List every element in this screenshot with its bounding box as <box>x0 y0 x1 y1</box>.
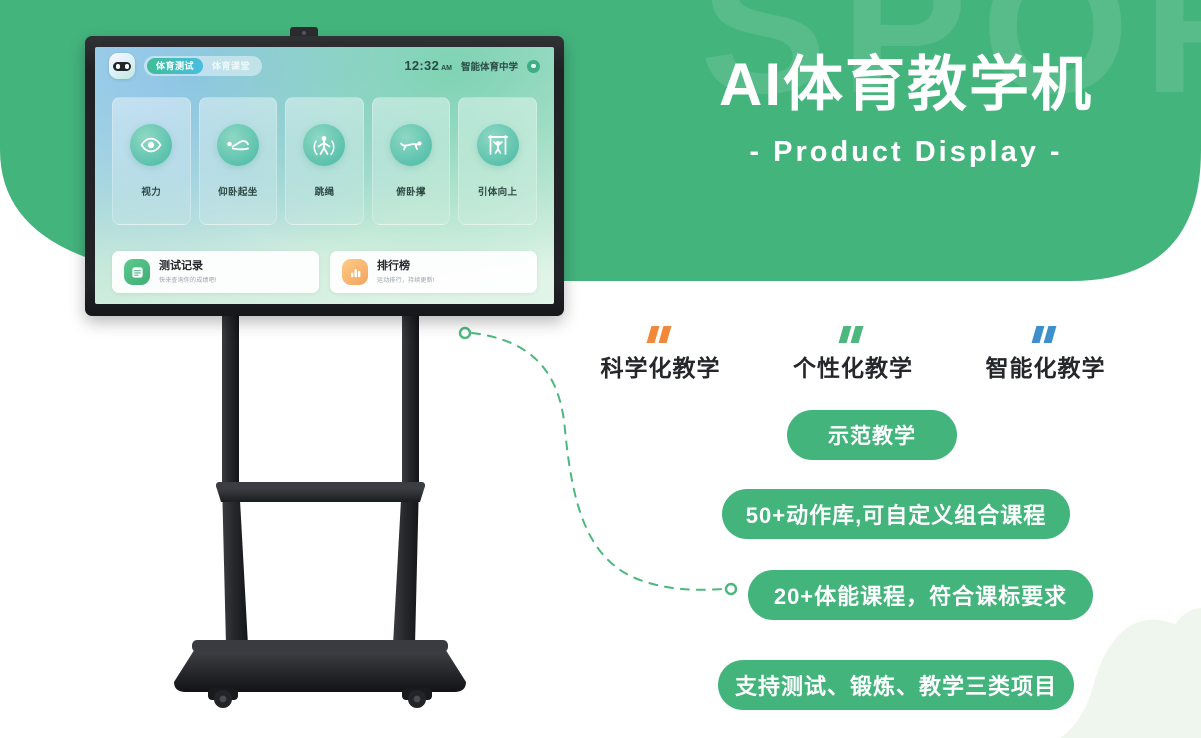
hero-text-block: AI体育教学机 - Product Display - <box>646 52 1166 169</box>
feature-intelligent: 智能化教学 <box>958 326 1133 383</box>
feature-label: 个性化教学 <box>766 349 941 383</box>
tile-label: 引体向上 <box>478 184 518 198</box>
school-name: 智能体育中学 <box>461 59 518 73</box>
card-subtitle: 快来查询你的成绩吧! <box>159 275 217 284</box>
feature-pill-action-library[interactable]: 50+动作库,可自定义组合课程 <box>722 489 1070 539</box>
caster-right <box>402 688 432 708</box>
left-post-lower <box>222 482 248 645</box>
eye-icon <box>130 124 172 166</box>
mode-tab-group[interactable]: 体育测试 体育课堂 <box>144 56 262 76</box>
card-test-records[interactable]: 测试记录 快来查询你的成绩吧! <box>112 251 319 293</box>
right-post-lower <box>393 482 419 645</box>
document-record-icon <box>124 259 150 285</box>
clock-ampm: AM <box>441 65 452 72</box>
right-post-upper <box>402 312 419 482</box>
card-text: 排行榜 运动排行，持续更新! <box>377 260 435 284</box>
quote-mark-icon <box>840 326 866 343</box>
tile-pullup[interactable]: 引体向上 <box>458 97 537 225</box>
middle-shelf-top <box>216 482 425 489</box>
feature-heading-row: 科学化教学 个性化教学 智能化教学 <box>573 326 1133 383</box>
jumprope-icon <box>303 124 345 166</box>
card-subtitle: 运动排行，持续更新! <box>377 275 435 284</box>
connector-end-dot-icon <box>726 584 736 594</box>
card-title: 排行榜 <box>377 260 435 273</box>
clock: 12:32AM <box>404 57 452 75</box>
tile-vision[interactable]: 视力 <box>112 97 191 225</box>
feature-science: 科学化教学 <box>573 326 748 383</box>
page-subtitle: - Product Display - <box>646 136 1166 169</box>
feature-label: 智能化教学 <box>958 349 1133 383</box>
tile-label: 仰卧起坐 <box>218 184 258 198</box>
tile-pushup[interactable]: 俯卧撑 <box>372 97 451 225</box>
clock-time: 12:32 <box>404 58 439 73</box>
page-title: AI体育教学机 <box>646 52 1166 118</box>
caster-left <box>208 688 238 708</box>
feature-pill-three-categories[interactable]: 支持测试、锻炼、教学三类项目 <box>718 660 1074 710</box>
feature-label: 科学化教学 <box>573 349 748 383</box>
pullup-icon <box>477 124 519 166</box>
app-status-bar: 体育测试 体育课堂 12:32AM 智能体育中学 <box>95 47 554 85</box>
tab-sports-class[interactable]: 体育课堂 <box>203 58 259 74</box>
base-plate-top <box>192 640 448 652</box>
pushup-icon <box>390 124 432 166</box>
feature-personalized: 个性化教学 <box>766 326 941 383</box>
mobile-tv-stand-icon <box>170 310 490 710</box>
gear-icon[interactable] <box>527 60 540 73</box>
feature-pill-fitness-courses[interactable]: 20+体能课程，符合课标要求 <box>748 570 1093 620</box>
card-title: 测试记录 <box>159 260 217 273</box>
test-item-grid: 视力 仰卧起坐 <box>112 97 537 225</box>
tile-jumprope[interactable]: 跳绳 <box>285 97 364 225</box>
display-screen: 体育测试 体育课堂 12:32AM 智能体育中学 <box>95 47 554 304</box>
feature-pill-demo-teaching[interactable]: 示范教学 <box>787 410 957 460</box>
card-text: 测试记录 快来查询你的成绩吧! <box>159 260 217 284</box>
tile-label: 跳绳 <box>315 184 335 198</box>
robot-avatar-icon <box>109 53 135 79</box>
tile-label: 俯卧撑 <box>396 184 426 198</box>
bar-chart-icon <box>342 259 368 285</box>
left-post-upper <box>222 312 239 482</box>
interactive-display-device: 体育测试 体育课堂 12:32AM 智能体育中学 <box>85 36 564 316</box>
tile-label: 视力 <box>141 184 161 198</box>
tab-sports-test[interactable]: 体育测试 <box>147 58 203 74</box>
quote-mark-icon <box>648 326 674 343</box>
status-bar-right: 12:32AM 智能体育中学 <box>404 57 540 75</box>
tile-situp[interactable]: 仰卧起坐 <box>199 97 278 225</box>
quote-mark-icon <box>1033 326 1059 343</box>
situp-icon <box>217 124 259 166</box>
shortcut-card-row: 测试记录 快来查询你的成绩吧! 排行榜 运动排行，持续更新! <box>112 251 537 293</box>
poster-canvas: SPORTS AI体育教学机 - Product Display - 科学化教学… <box>0 0 1201 738</box>
card-leaderboard[interactable]: 排行榜 运动排行，持续更新! <box>330 251 537 293</box>
